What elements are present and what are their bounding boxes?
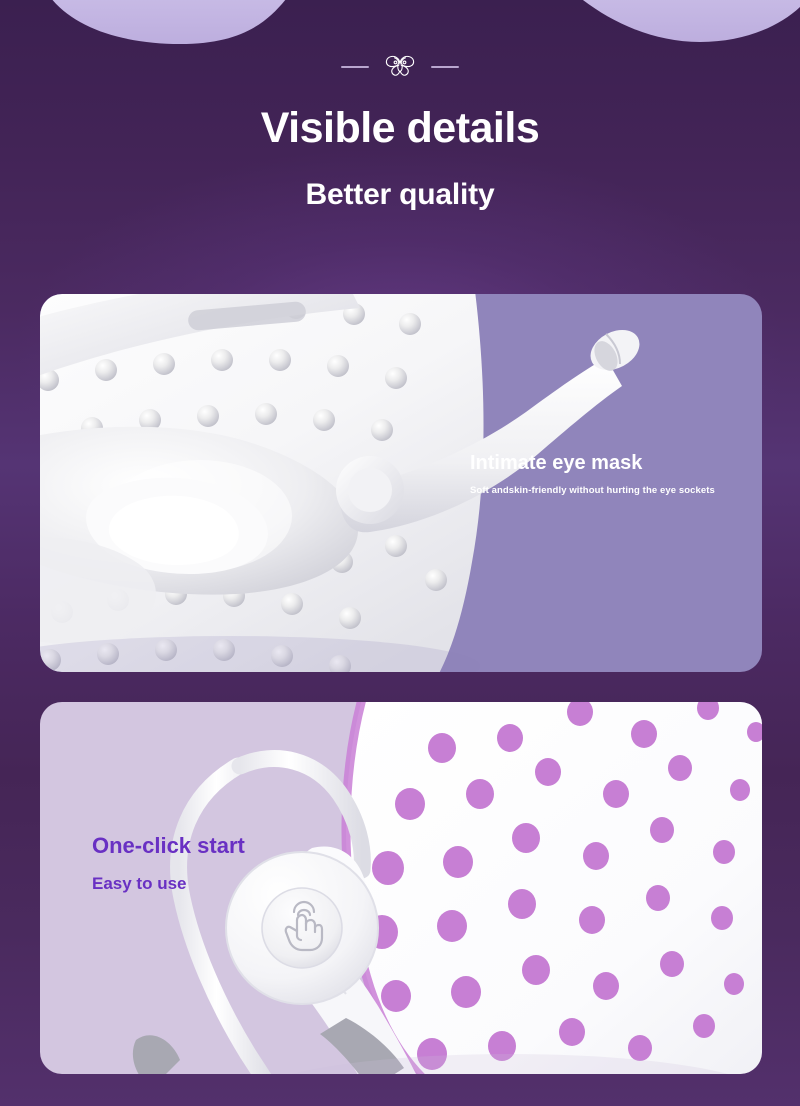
card-caption-title: One-click start: [92, 834, 342, 858]
marketing-page: Visible details Better quality: [0, 0, 800, 1106]
divider-dash-left: [341, 66, 369, 68]
card-caption: Intimate eye mask Soft andskin-friendly …: [470, 452, 738, 497]
card-caption-subtitle: Soft andskin-friendly without hurting th…: [470, 485, 738, 497]
card-caption-title: Intimate eye mask: [470, 452, 738, 474]
feature-card-intimate-eye-mask[interactable]: Intimate eye mask Soft andskin-friendly …: [40, 294, 762, 672]
divider-dash-right: [431, 66, 459, 68]
top-wave-decoration: [0, 0, 800, 60]
feature-card-one-click-start[interactable]: One-click start Easy to use: [40, 702, 762, 1074]
page-title-block: Visible details Better quality: [0, 104, 800, 211]
card-caption-subtitle: Easy to use: [92, 873, 342, 895]
butterfly-icon: [383, 52, 417, 82]
page-title: Visible details: [0, 104, 800, 152]
card-caption: One-click start Easy to use: [92, 834, 342, 895]
divider: [0, 52, 800, 82]
page-subtitle: Better quality: [0, 178, 800, 211]
